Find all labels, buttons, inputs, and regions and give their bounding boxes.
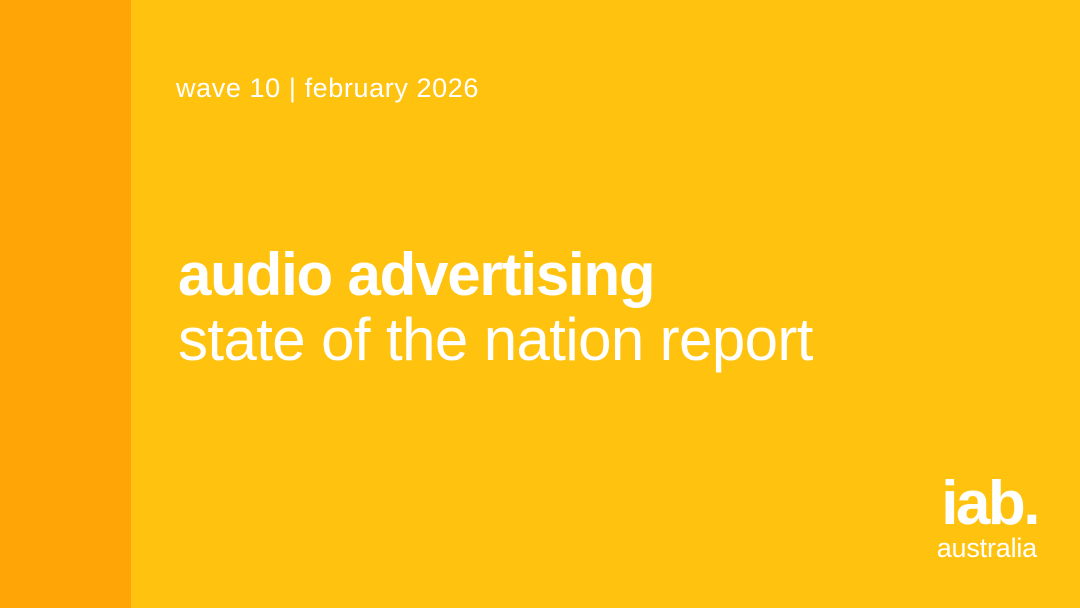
page-title: audio advertising state of the nation re… — [178, 243, 813, 374]
wave-and-date-eyebrow: wave 10 | february 2026 — [176, 74, 479, 104]
iab-wordmark: iab. — [937, 475, 1038, 532]
iab-australia-logo: iab. australia — [937, 475, 1038, 562]
iab-region-label: australia — [937, 534, 1037, 562]
page-title-primary: audio advertising — [178, 243, 813, 308]
page-title-secondary: state of the nation report — [178, 306, 813, 374]
accent-stripe — [0, 0, 131, 608]
title-slide: wave 10 | february 2026 audio advertisin… — [0, 0, 1080, 608]
